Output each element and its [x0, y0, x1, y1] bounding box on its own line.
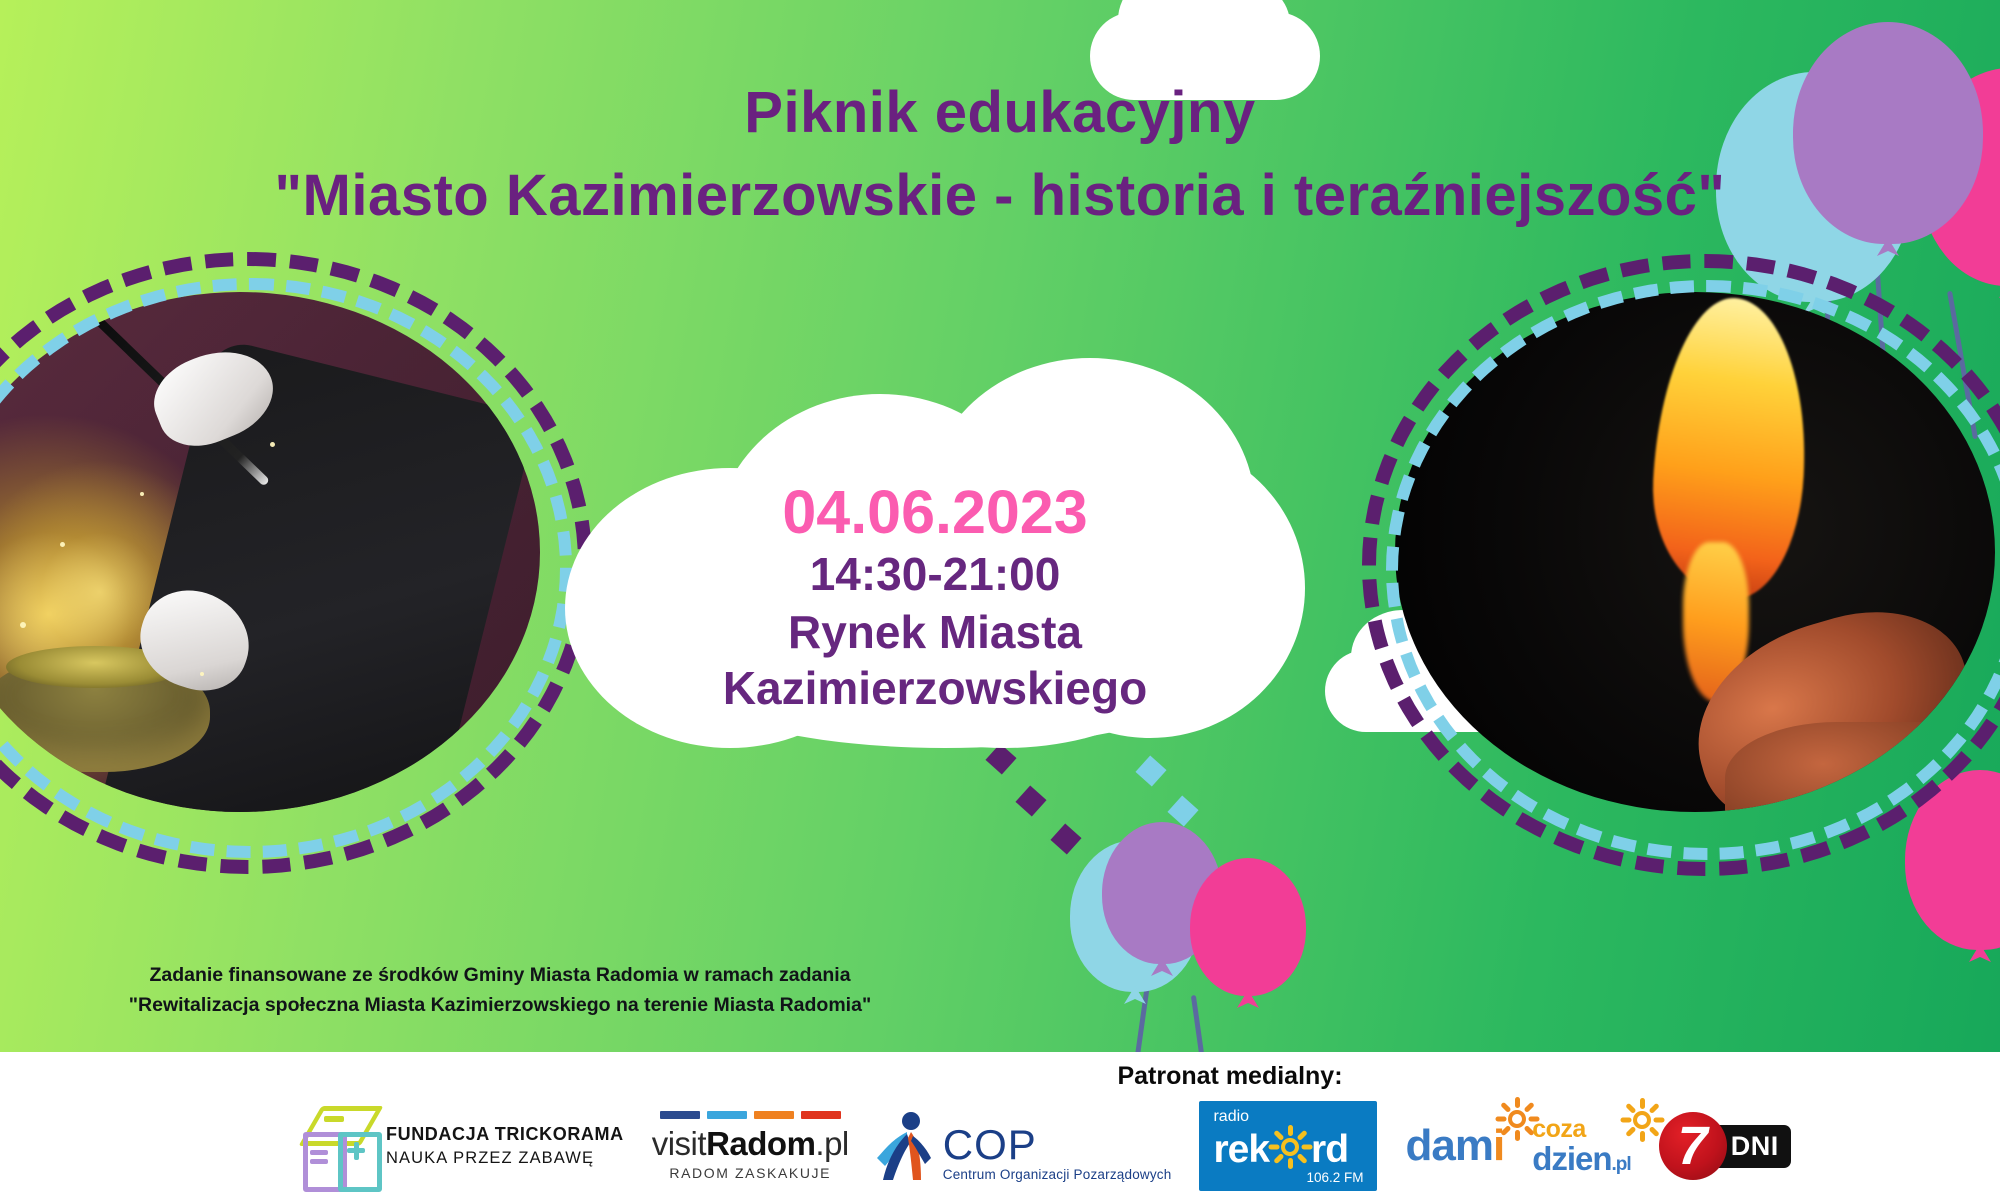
rekord-wordmark: rek rd: [1213, 1126, 1363, 1168]
cop-tagline: Centrum Organizacji Pozarządowych: [943, 1167, 1172, 1182]
cube-icon: [300, 1106, 374, 1186]
cube-plus-glyph: [347, 1148, 365, 1153]
seven-circle-icon: 7: [1659, 1112, 1727, 1180]
cube-right-face: [338, 1132, 382, 1192]
page-title: Piknik edukacyjny: [0, 82, 2000, 145]
sun-ray: [1524, 1102, 1535, 1113]
sun-core: [1633, 1111, 1651, 1129]
cube-equals-glyph: [310, 1150, 328, 1155]
sun-core: [1281, 1138, 1299, 1156]
logo-cop[interactable]: COP Centrum Organizacji Pozarządowych: [877, 1110, 1172, 1182]
funding-line-2: "Rewitalizacja społeczna Miasta Kazimier…: [100, 990, 900, 1020]
cop-wordmark: COP: [943, 1125, 1172, 1165]
logo-visitradom[interactable]: visitRadom.pl RADOM ZASKAKUJE: [652, 1111, 849, 1181]
sun-core: [1508, 1110, 1526, 1128]
sun-ray: [1620, 1118, 1631, 1123]
sun-ray: [1500, 1102, 1511, 1113]
rekord-part-b: rd: [1311, 1128, 1348, 1171]
trickorama-text: FUNDACJA TRICKORAMA NAUKA PRZEZ ZABAWĘ: [386, 1124, 624, 1168]
dami-wordmark: dami: [1405, 1121, 1504, 1170]
confetti-dash: [1015, 785, 1046, 816]
logo-trickorama[interactable]: FUNDACJA TRICKORAMA NAUKA PRZEZ ZABAWĘ: [300, 1106, 624, 1186]
sun-icon: [1621, 1099, 1663, 1141]
event-venue-line-1: Rynek Miasta: [565, 604, 1305, 660]
event-details-cloud: 04.06.2023 14:30-21:00 Rynek Miasta Kazi…: [565, 358, 1305, 750]
sun-ray: [1288, 1158, 1293, 1169]
visit-bold: Radom: [706, 1125, 815, 1162]
confetti-dash: [1167, 795, 1198, 826]
sun-ray: [1640, 1098, 1645, 1109]
event-details-text: 04.06.2023 14:30-21:00 Rynek Miasta Kazi…: [565, 358, 1305, 716]
cozadzien-line-2: dzien.pl: [1532, 1142, 1631, 1175]
balloon-pink: [1190, 858, 1306, 996]
visit-light: visit: [652, 1125, 706, 1162]
sun-ray: [1515, 1097, 1520, 1108]
funding-note: Zadanie finansowane ze środków Gminy Mia…: [100, 960, 900, 1020]
sponsor-logo-row: FUNDACJA TRICKORAMA NAUKA PRZEZ ZABAWĘ v…: [0, 1092, 2000, 1200]
cozadzien-word: dzien: [1532, 1140, 1611, 1177]
visitradom-tagline: RADOM ZASKAKUJE: [652, 1165, 849, 1181]
sun-ray: [1273, 1153, 1284, 1164]
logo-7dni[interactable]: 7 DNI: [1659, 1112, 1791, 1180]
rekord-frequency: 106.2 FM: [1213, 1170, 1363, 1185]
sun-ray: [1288, 1125, 1293, 1136]
sun-ray: [1640, 1131, 1645, 1142]
cop-figure-icon: [877, 1110, 939, 1182]
sun-icon: [1269, 1126, 1311, 1168]
funding-line-1: Zadanie finansowane ze środków Gminy Mia…: [100, 960, 900, 990]
visitradom-bars: [652, 1111, 849, 1119]
media-patronage-label: Patronat medialny:: [1020, 1062, 1440, 1091]
cozadzien-tld: .pl: [1612, 1154, 1631, 1175]
bar-blue: [707, 1111, 747, 1119]
dami-part-a: dam: [1405, 1121, 1492, 1170]
logo-cozadzien[interactable]: coza dzien.pl: [1532, 1117, 1631, 1175]
bar-red: [801, 1111, 841, 1119]
visit-tld: .pl: [815, 1125, 848, 1162]
dotted-ring-blue: [1386, 280, 2000, 860]
trickorama-name: FUNDACJA TRICKORAMA: [386, 1124, 624, 1145]
poster-title-block: Piknik edukacyjny "Miasto Kazimierzowski…: [0, 82, 2000, 227]
rekord-part-a: rek: [1213, 1128, 1269, 1171]
cube-minus-glyph: [324, 1116, 344, 1122]
sun-ray: [1297, 1153, 1308, 1164]
poster-footer: Patronat medialny: FUNDACJA TRICKORAMA N…: [0, 1052, 2000, 1200]
sun-ray: [1297, 1130, 1308, 1141]
trickorama-tagline: NAUKA PRZEZ ZABAWĘ: [386, 1149, 624, 1168]
sun-ray: [1496, 1117, 1507, 1122]
seven-numeral: 7: [1659, 1112, 1727, 1180]
sun-ray: [1302, 1145, 1313, 1150]
sun-ray: [1515, 1130, 1520, 1141]
sun-ray: [1625, 1103, 1636, 1114]
balloon-string: [1191, 995, 1204, 1052]
logo-dami[interactable]: dami: [1405, 1124, 1504, 1168]
logo-radio-rekord[interactable]: radio rek rd 106.2 FM: [1199, 1101, 1377, 1190]
poster-stage: Piknik edukacyjny "Miasto Kazimierzowski…: [0, 0, 2000, 1052]
confetti-dash: [1135, 755, 1166, 786]
bar-navy: [660, 1111, 700, 1119]
event-date: 04.06.2023: [565, 480, 1305, 544]
event-venue-line-2: Kazimierzowskiego: [565, 660, 1305, 716]
visitradom-wordmark: visitRadom.pl: [652, 1125, 849, 1163]
cop-text: COP Centrum Organizacji Pozarządowych: [943, 1125, 1172, 1182]
rekord-radio-label: radio: [1213, 1109, 1363, 1125]
page-subtitle: "Miasto Kazimierzowskie - historia i ter…: [0, 165, 2000, 228]
confetti-dash: [1050, 823, 1081, 854]
sun-ray: [1625, 1126, 1636, 1137]
cozadzien-line-1: coza: [1532, 1117, 1631, 1142]
event-poster: Piknik edukacyjny "Miasto Kazimierzowski…: [0, 0, 2000, 1200]
event-time: 14:30-21:00: [565, 546, 1305, 604]
sun-ray: [1269, 1145, 1280, 1150]
sun-ray: [1500, 1125, 1511, 1136]
bar-orange: [754, 1111, 794, 1119]
